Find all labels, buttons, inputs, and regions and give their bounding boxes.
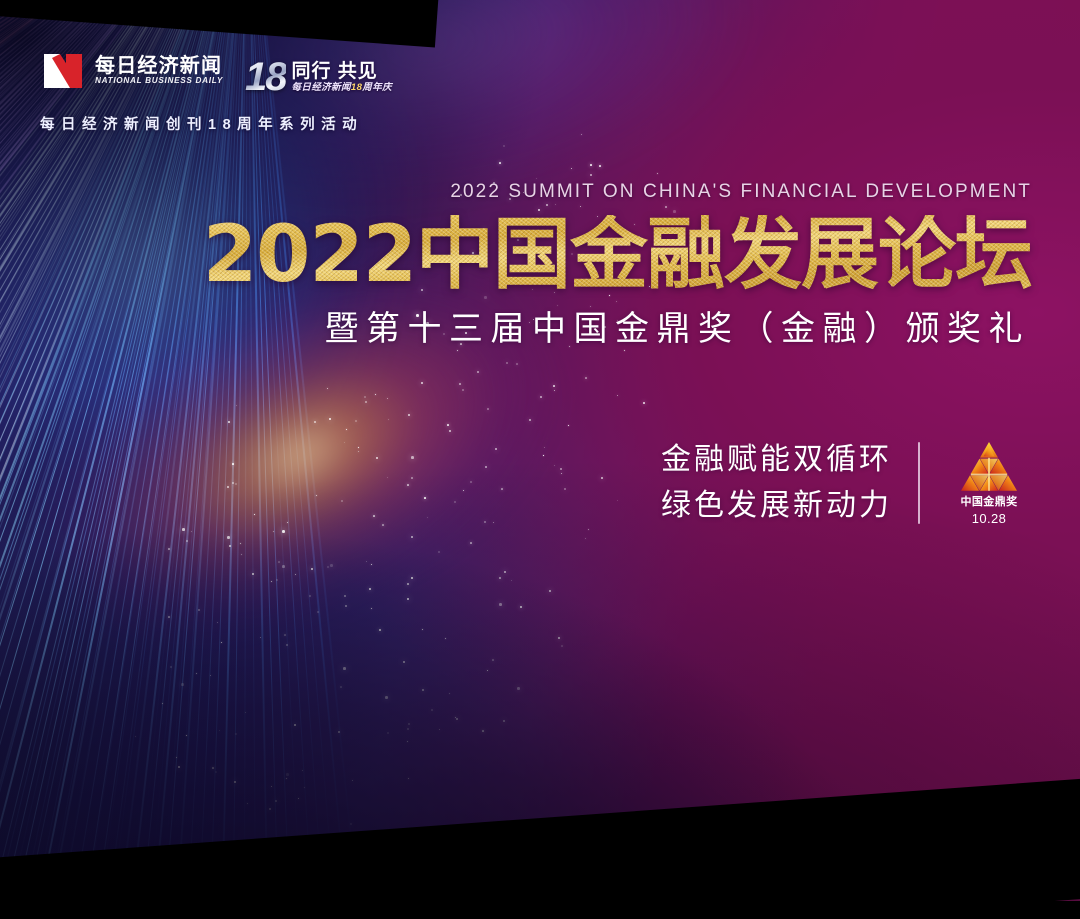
golden-tripod-award-icon: [958, 440, 1020, 492]
anniversary-number: 18: [245, 60, 286, 94]
logo-row: 每日经济新闻 NATIONAL BUSINESS DAILY 18 同行 共见 …: [40, 48, 392, 94]
anniversary-subline-prefix: 每日经济新闻: [292, 82, 351, 93]
nbd-logo: 每日经济新闻 NATIONAL BUSINESS DAILY: [40, 48, 223, 94]
nbd-logo-text: 每日经济新闻 NATIONAL BUSINESS DAILY: [95, 56, 223, 85]
slogan-line-1: 金融赋能双循环: [661, 445, 892, 475]
slogan-award-block: 金融赋能双循环 绿色发展新动力: [661, 440, 1032, 526]
vertical-divider: [918, 442, 920, 524]
slogan-line-2: 绿色发展新动力: [661, 491, 892, 521]
poster-header: 每日经济新闻 NATIONAL BUSINESS DAILY 18 同行 共见 …: [40, 48, 392, 134]
title-main: 2022中国金融发展论坛: [203, 215, 1032, 296]
nbd-monogram-icon: [40, 48, 86, 94]
nbd-logo-en: NATIONAL BUSINESS DAILY: [95, 77, 223, 85]
anniversary-subline: 每日经济新闻18周年庆: [292, 83, 392, 93]
anniversary-subline-number: 18: [351, 82, 362, 93]
event-poster: 每日经济新闻 NATIONAL BUSINESS DAILY 18 同行 共见 …: [0, 0, 1080, 919]
title-sub: 暨第十三届中国金鼎奖（金融）颁奖礼: [203, 312, 1032, 346]
anniversary-logo: 18 同行 共见 每日经济新闻18周年庆: [245, 60, 392, 94]
campaign-tag: 每日经济新闻创刊18周年系列活动: [40, 113, 392, 134]
award-badge: 中国金鼎奖 10.28: [946, 440, 1032, 526]
anniversary-slogan: 同行 共见: [292, 62, 392, 81]
title-english: 2022 SUMMIT ON CHINA'S FINANCIAL DEVELOP…: [203, 182, 1032, 201]
anniversary-subline-suffix: 周年庆: [362, 82, 392, 93]
title-block: 2022 SUMMIT ON CHINA'S FINANCIAL DEVELOP…: [203, 182, 1032, 346]
award-date: 10.28: [972, 512, 1007, 526]
anniversary-text: 同行 共见 每日经济新闻18周年庆: [292, 62, 392, 95]
nbd-logo-cn: 每日经济新闻: [95, 56, 223, 76]
award-name: 中国金鼎奖: [961, 496, 1018, 508]
slogan-group: 金融赋能双循环 绿色发展新动力: [661, 445, 892, 521]
